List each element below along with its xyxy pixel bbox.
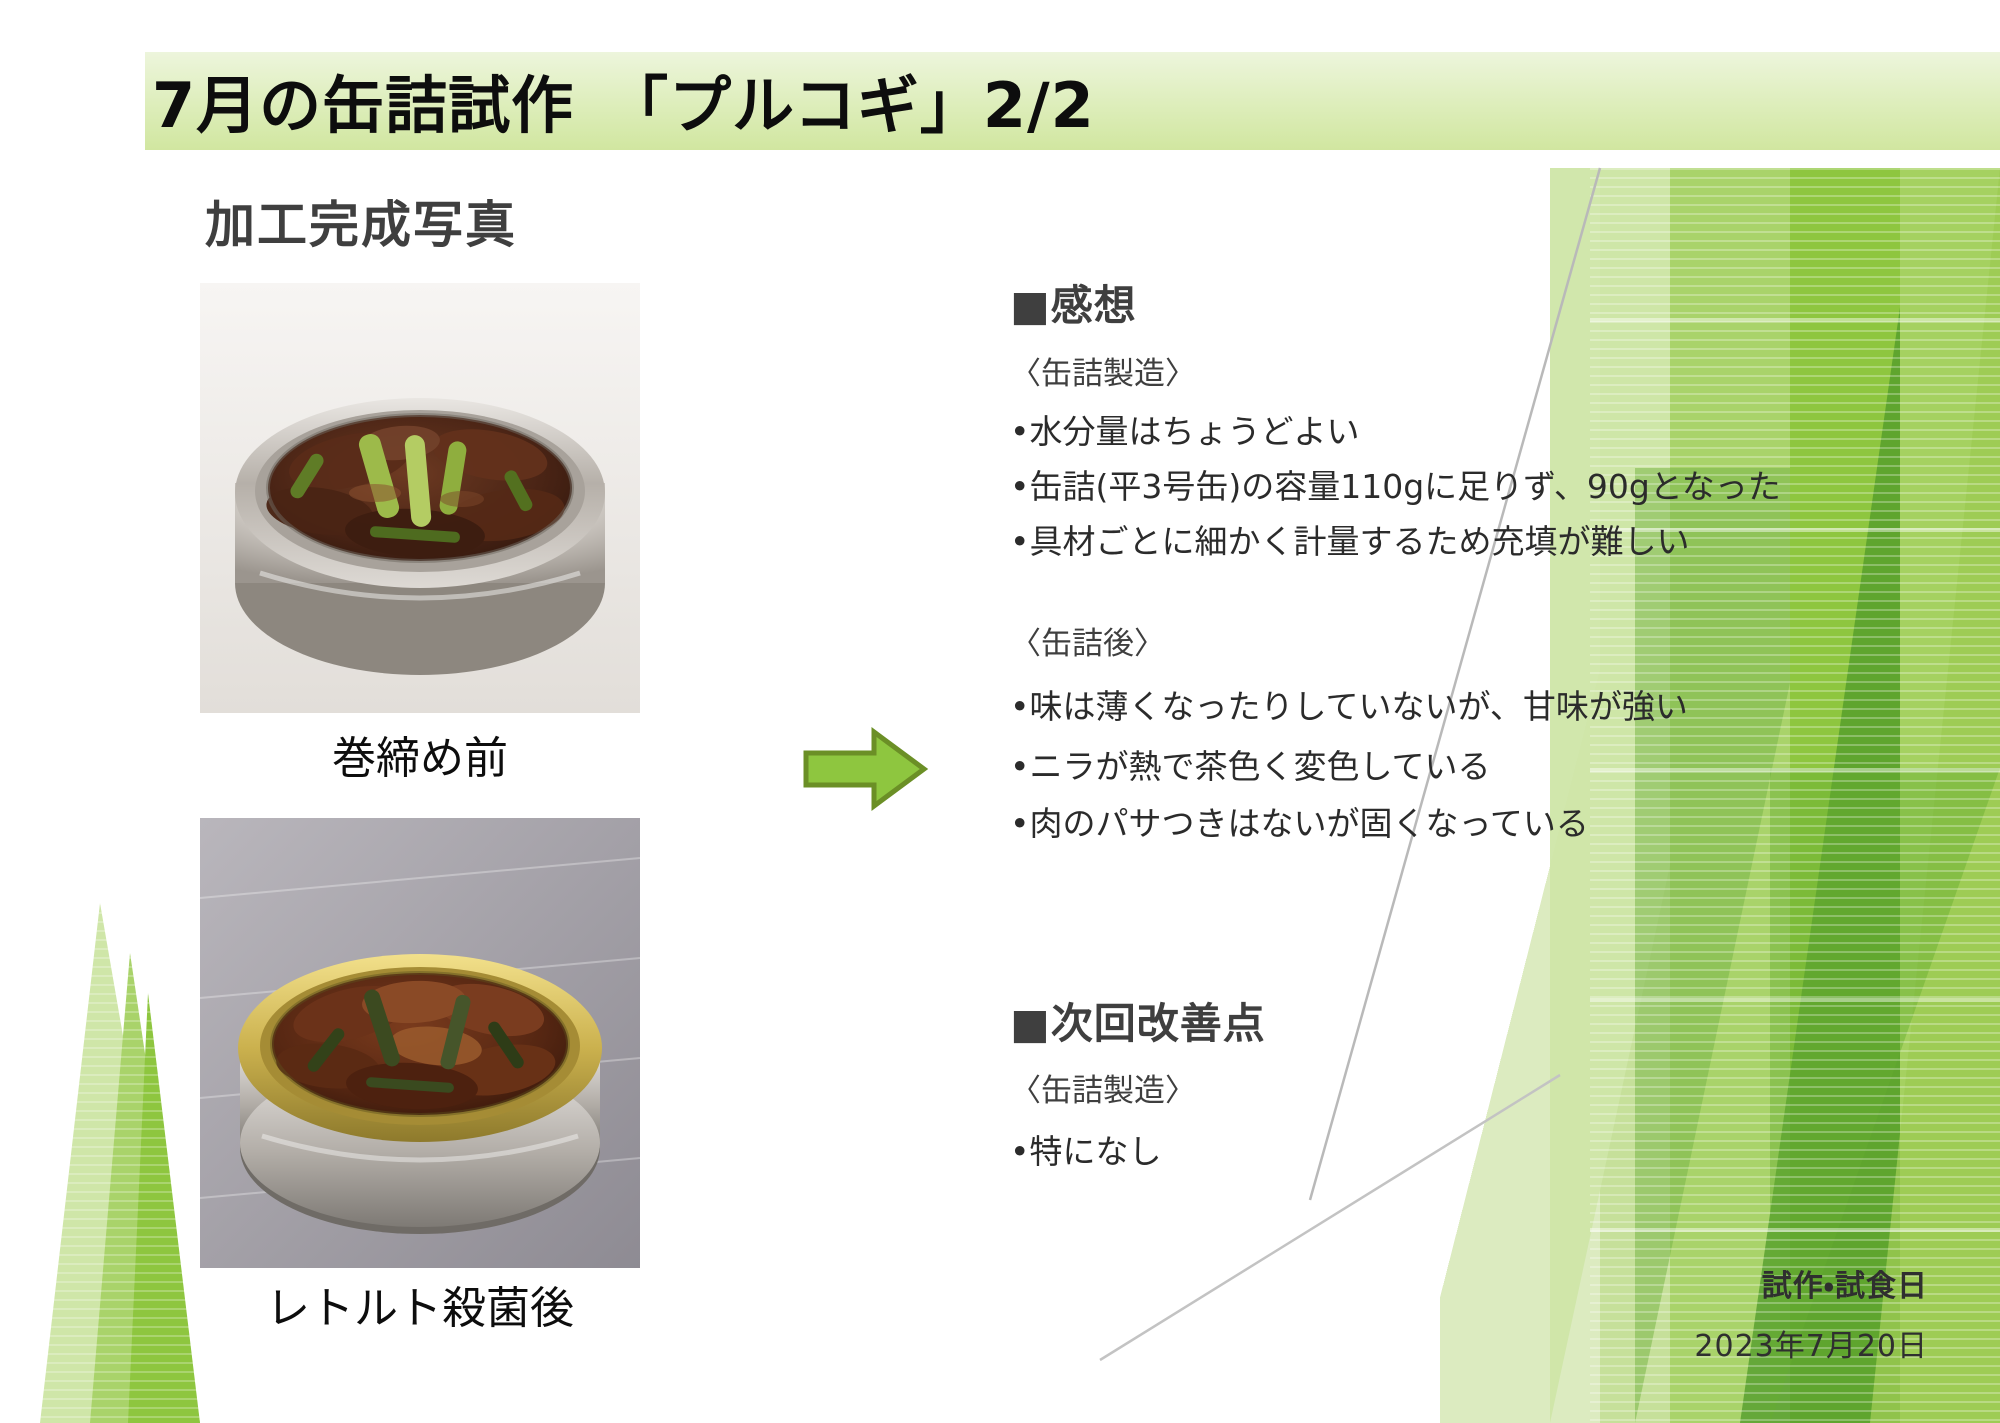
page-title: 7月の缶詰試作 「プルコギ」2/2 — [152, 55, 1095, 145]
photo-caption-before-seaming: 巻締め前 — [200, 722, 640, 786]
decorative-graphic-left — [0, 903, 200, 1423]
right-arrow-icon — [800, 726, 930, 812]
section-heading-improvements: ■次回改善点 — [1010, 990, 1266, 1051]
photo-after-retort-image — [200, 818, 640, 1268]
impressions-group-0-label: 〈缶詰製造〉 — [1010, 348, 1196, 393]
photo-after-retort — [200, 818, 640, 1268]
impressions-group-0-item-1: •缶詰(平3号缶)の容量110gに足りず、90gとなった — [1010, 460, 1781, 508]
slide-canvas: 7月の缶詰試作 「プルコギ」2/2 加工完成写真 — [0, 0, 2000, 1423]
section-heading-impressions: ■感想 — [1010, 272, 1137, 333]
impressions-group-1-item-0: •味は薄くなったりしていないが、甘味が強い — [1010, 680, 1688, 728]
improvements-heading-label: 次回改善点 — [1051, 999, 1266, 1048]
improvements-group-0-label: 〈缶詰製造〉 — [1010, 1065, 1196, 1110]
improvements-group-0-item-0: •特になし — [1010, 1125, 1161, 1173]
impressions-marker: ■ — [1010, 281, 1051, 330]
footer-date-label: 試作・試食日 — [1528, 1261, 1928, 1305]
section-heading-photos: 加工完成写真 — [205, 185, 517, 257]
impressions-heading-label: 感想 — [1051, 281, 1137, 330]
improvements-marker: ■ — [1010, 999, 1051, 1048]
photo-before-seaming — [200, 283, 640, 713]
impressions-group-0-item-0: •水分量はちょうどよい — [1010, 405, 1359, 453]
footer-date-value: 2023年7月20日 — [1528, 1321, 1928, 1365]
footer-date-block: 試作・試食日 2023年7月20日 — [1528, 1261, 1928, 1365]
impressions-group-1-item-1: •ニラが熱で茶色く変色している — [1010, 740, 1490, 788]
impressions-group-0-item-2: •具材ごとに細かく計量するため充填が難しい — [1010, 515, 1689, 563]
decorative-graphic-right — [1440, 168, 2000, 1423]
photo-before-seaming-image — [200, 283, 640, 713]
impressions-group-1-item-2: •肉のパサつきはないが固くなっている — [1010, 797, 1589, 845]
photo-caption-after-retort: レトルト殺菌後 — [180, 1272, 660, 1336]
impressions-group-1-label: 〈缶詰後〉 — [1010, 618, 1165, 663]
